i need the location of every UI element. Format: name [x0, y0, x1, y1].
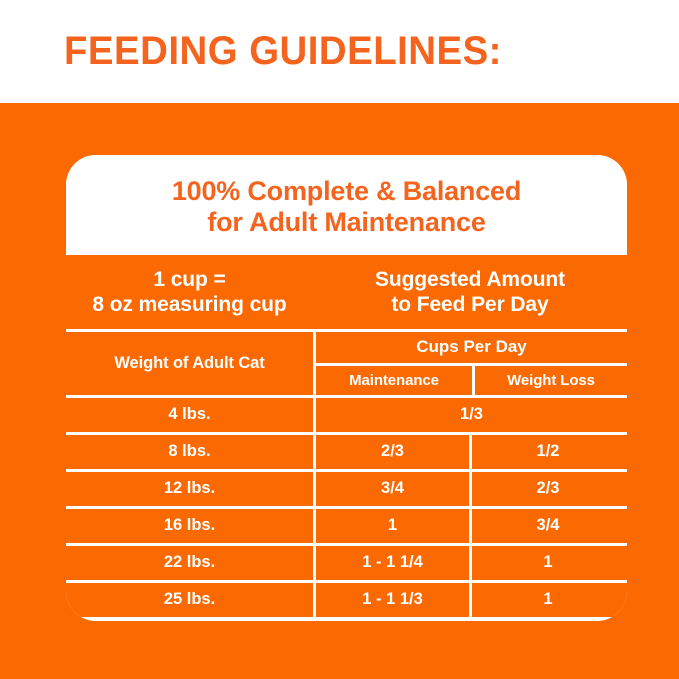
table-header-top-row: 1 cup = 8 oz measuring cup Suggested Amo… — [66, 255, 627, 329]
table-header-sub-row: Weight of Adult Cat Cups Per Day Mainten… — [66, 329, 627, 395]
column-header-cups-per-day: Cups Per Day — [316, 332, 627, 363]
table-row: 4 lbs.1/3 — [66, 395, 627, 432]
cell-weight: 4 lbs. — [66, 398, 313, 432]
table-body: 4 lbs.1/38 lbs.2/31/212 lbs.3/42/316 lbs… — [66, 395, 627, 617]
cell-maintenance: 3/4 — [313, 472, 469, 506]
page-title: FEEDING GUIDELINES: — [64, 29, 502, 74]
card-heading-line-1: 100% Complete & Balanced — [172, 176, 521, 207]
column-header-weight-of-adult-cat: Weight of Adult Cat — [66, 332, 313, 395]
cell-weight-loss: 1/2 — [469, 435, 624, 469]
cups-per-day-group: Cups Per Day Maintenance Weight Loss — [313, 332, 627, 395]
feeding-guidelines-card: 100% Complete & Balanced for Adult Maint… — [66, 155, 627, 621]
cup-definition-line-1: 1 cup = — [153, 267, 225, 292]
table-row: 25 lbs.1 - 1 1/31 — [66, 580, 627, 617]
column-header-maintenance: Maintenance — [316, 366, 472, 395]
cell-weight: 25 lbs. — [66, 583, 313, 617]
table-row: 12 lbs.3/42/3 — [66, 469, 627, 506]
cell-maintenance: 1 - 1 1/4 — [313, 546, 469, 580]
column-header-weight-loss: Weight Loss — [472, 366, 627, 395]
feeding-table: 1 cup = 8 oz measuring cup Suggested Amo… — [66, 255, 627, 617]
feeding-guidelines-page: FEEDING GUIDELINES: 100% Complete & Bala… — [0, 0, 679, 679]
cell-weight: 8 lbs. — [66, 435, 313, 469]
suggested-amount-line-1: Suggested Amount — [375, 267, 565, 292]
title-band: FEEDING GUIDELINES: — [0, 0, 679, 103]
cell-maintenance: 2/3 — [313, 435, 469, 469]
cell-weight-loss: 1 — [469, 583, 624, 617]
cell-weight: 22 lbs. — [66, 546, 313, 580]
suggested-amount-cell: Suggested Amount to Feed Per Day — [313, 255, 627, 329]
cell-weight: 16 lbs. — [66, 509, 313, 543]
cup-definition-cell: 1 cup = 8 oz measuring cup — [66, 255, 313, 329]
cell-weight: 12 lbs. — [66, 472, 313, 506]
cup-definition-line-2: 8 oz measuring cup — [92, 292, 286, 317]
cell-weight-loss: 2/3 — [469, 472, 624, 506]
cell-amount-spanned: 1/3 — [313, 398, 627, 432]
cell-maintenance: 1 — [313, 509, 469, 543]
card-heading-line-2: for Adult Maintenance — [207, 207, 485, 238]
card-heading: 100% Complete & Balanced for Adult Maint… — [66, 155, 627, 255]
cell-weight-loss: 1 — [469, 546, 624, 580]
cell-weight-loss: 3/4 — [469, 509, 624, 543]
cups-per-day-subheaders: Maintenance Weight Loss — [316, 363, 627, 395]
cell-maintenance: 1 - 1 1/3 — [313, 583, 469, 617]
suggested-amount-line-2: to Feed Per Day — [391, 292, 548, 317]
table-row: 22 lbs.1 - 1 1/41 — [66, 543, 627, 580]
table-row: 8 lbs.2/31/2 — [66, 432, 627, 469]
table-row: 16 lbs.13/4 — [66, 506, 627, 543]
